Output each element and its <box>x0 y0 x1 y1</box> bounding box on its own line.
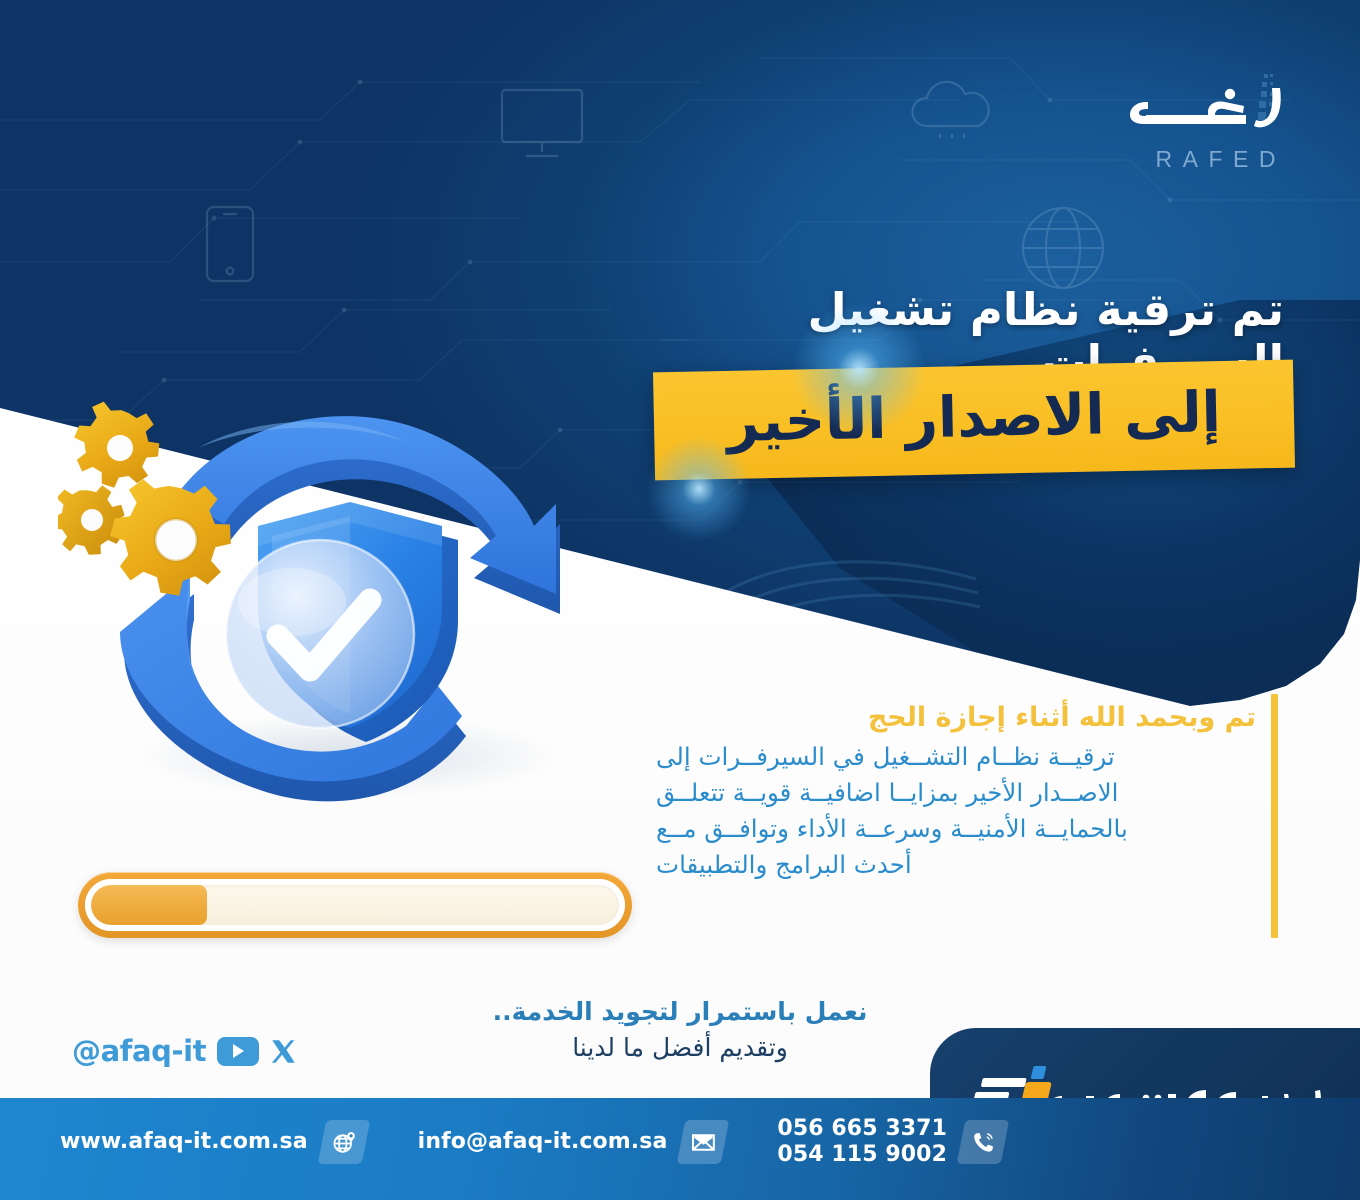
youtube-icon[interactable] <box>217 1037 259 1066</box>
phone-number-1: 056 665 3371 <box>777 1116 947 1142</box>
rafed-logo-wordmark: RAFED <box>1156 146 1286 173</box>
info-body-line: بالحمايــة الأمنيــة وسرعــة الأداء وتوا… <box>656 811 1256 847</box>
contact-website[interactable]: www.afaq-it.com.sa <box>60 1120 366 1164</box>
smartphone-icon <box>205 205 255 283</box>
monitor-icon <box>500 88 584 162</box>
info-body-line: الاصــدار الأخير بمزايــا اضافيــة قويــ… <box>656 775 1256 811</box>
tagline-line-2: وتقديم أفضل ما لدينا <box>390 1031 970 1065</box>
contact-list: 056 665 3371 054 115 9002 info@afaq-it.c… <box>60 1116 1005 1168</box>
contact-phone[interactable]: 056 665 3371 054 115 9002 <box>777 1116 1005 1168</box>
info-block: تم وبحمد الله أثناء إجازة الحج ترقيــة ن… <box>656 700 1256 883</box>
info-block-body: ترقيــة نظــام التشــغيل في السيرفــرات … <box>656 739 1256 883</box>
info-block-heading: تم وبحمد الله أثناء إجازة الحج <box>656 700 1256 735</box>
social-handle[interactable]: @afaq-it <box>72 1034 206 1068</box>
tagline-line-1: نعمل باستمرار لتجويد الخدمة.. <box>390 996 970 1029</box>
contact-email[interactable]: info@afaq-it.com.sa <box>418 1120 726 1164</box>
phone-numbers: 056 665 3371 054 115 9002 <box>777 1116 947 1168</box>
poster-canvas: RAFED تم ترقية نظام تشغيل السيرفرات إلى … <box>0 0 1360 1200</box>
cloud-icon <box>900 78 1004 140</box>
gear-top <box>65 397 168 496</box>
info-body-line: أحدث البرامج والتطبيقات <box>656 847 1256 883</box>
x-twitter-icon[interactable] <box>270 1038 297 1065</box>
accent-rule <box>1271 694 1278 938</box>
rafed-logo: RAFED <box>1112 72 1288 182</box>
system-update-illustration <box>58 396 618 816</box>
tagline: نعمل باستمرار لتجويد الخدمة.. وتقديم أفض… <box>390 996 970 1064</box>
band-label: إلى الاصدار الأخير <box>653 360 1295 481</box>
email-address: info@afaq-it.com.sa <box>418 1129 668 1155</box>
info-body-line: ترقيــة نظــام التشــغيل في السيرفــرات … <box>656 739 1256 775</box>
progress-bar-fill <box>91 885 207 925</box>
progress-bar-groove <box>91 885 619 925</box>
globe-pin-icon <box>317 1120 370 1164</box>
progress-bar <box>78 872 632 938</box>
gears-group <box>58 397 237 601</box>
phone-number-2: 054 115 9002 <box>777 1142 947 1168</box>
rafed-logo-mark <box>1112 72 1288 146</box>
headline-highlight-band: إلى الاصدار الأخير <box>654 366 1294 474</box>
checkmark-badge <box>226 540 414 728</box>
progress-bar-track <box>85 879 625 931</box>
website-url: www.afaq-it.com.sa <box>60 1129 308 1155</box>
phone-icon <box>957 1120 1010 1164</box>
envelope-icon <box>677 1120 730 1164</box>
globe-icon <box>1020 205 1106 291</box>
social-row: @afaq-it <box>72 1034 297 1068</box>
